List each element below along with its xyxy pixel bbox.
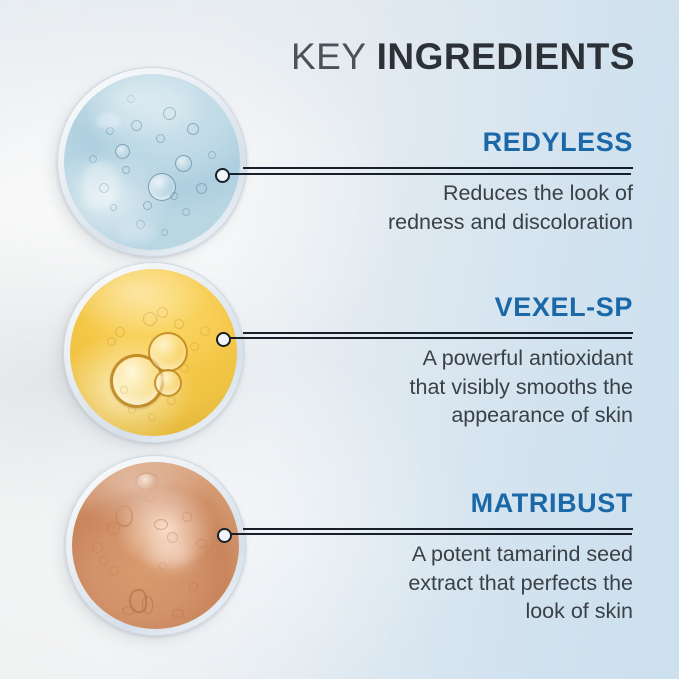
ingredient-block-matribust: MATRIBUST A potent tamarind seed extract… bbox=[243, 489, 633, 625]
dish-rim-edge bbox=[57, 67, 247, 257]
blue-serum-petri-dish bbox=[57, 67, 247, 257]
ingredient-rule bbox=[243, 528, 633, 530]
connector-dot bbox=[217, 528, 232, 543]
dish-rim-edge bbox=[63, 262, 244, 443]
title-key: KEY bbox=[291, 36, 377, 77]
ingredients-infographic: KEY INGREDIENTS REDYLESS Reduces the loo… bbox=[0, 0, 679, 679]
ingredient-description-line: A potent tamarind seed bbox=[243, 540, 633, 568]
ingredient-block-vexel-sp: VEXEL-SP A powerful antioxidant that vis… bbox=[243, 293, 633, 429]
page-title: KEY INGREDIENTS bbox=[291, 36, 635, 78]
ingredient-name: VEXEL-SP bbox=[243, 293, 633, 321]
golden-oil-petri-dish bbox=[63, 262, 244, 443]
ingredient-description-line: redness and discoloration bbox=[243, 208, 633, 236]
dish-rim-edge bbox=[65, 455, 246, 636]
ingredient-description-line: extract that perfects the bbox=[243, 569, 633, 597]
ingredient-rule bbox=[243, 167, 633, 169]
ingredient-rule bbox=[243, 332, 633, 334]
copper-gel-petri-dish bbox=[65, 455, 246, 636]
ingredient-block-redyless: REDYLESS Reduces the look of redness and… bbox=[243, 128, 633, 236]
ingredient-description-line: A powerful antioxidant bbox=[243, 344, 633, 372]
title-ingredients: INGREDIENTS bbox=[377, 36, 635, 77]
ingredient-description-line: appearance of skin bbox=[243, 401, 633, 429]
connector-dot bbox=[216, 332, 231, 347]
ingredient-description-line: that visibly smooths the bbox=[243, 373, 633, 401]
ingredient-description-line: Reduces the look of bbox=[243, 179, 633, 207]
ingredient-name: MATRIBUST bbox=[243, 489, 633, 517]
ingredient-description-line: look of skin bbox=[243, 597, 633, 625]
ingredient-name: REDYLESS bbox=[243, 128, 633, 156]
connector-dot bbox=[215, 168, 230, 183]
